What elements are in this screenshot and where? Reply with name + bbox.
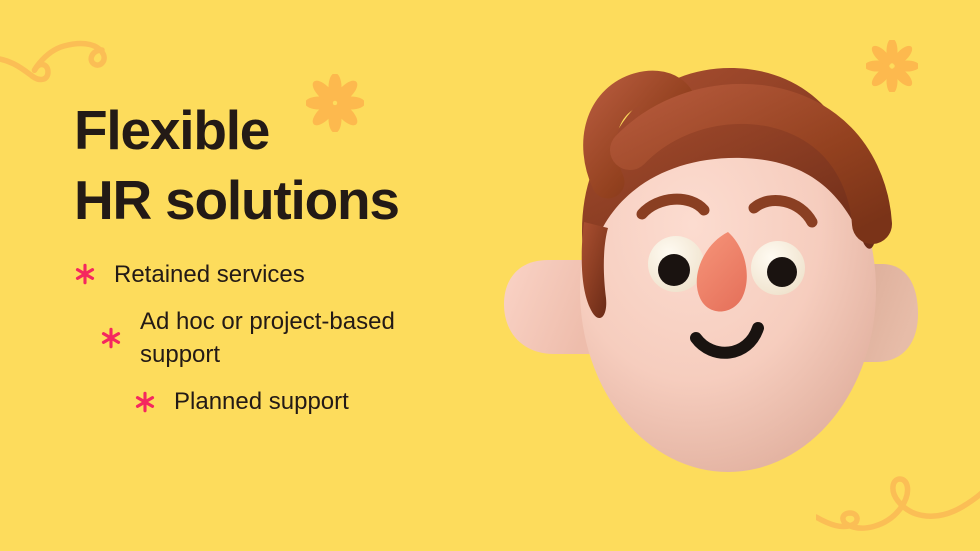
left-pupil: [658, 254, 690, 286]
squiggle-top-left-icon: [0, 18, 120, 98]
asterisk-icon: [100, 327, 122, 349]
feature-list: Retained services Ad hoc or project-base…: [74, 258, 524, 418]
list-item-label: Retained services: [114, 258, 305, 291]
list-item-label: Ad hoc or project-based support: [140, 305, 395, 371]
list-item: Ad hoc or project-based support: [74, 305, 524, 371]
3d-cartoon-head-illustration: [490, 42, 960, 482]
asterisk-icon: [134, 391, 156, 413]
list-item: Retained services: [74, 258, 524, 291]
slide-canvas: Flexible HR solutions Retained services: [0, 0, 980, 551]
list-item-label: Planned support: [174, 385, 349, 418]
list-item: Planned support: [74, 385, 524, 418]
page-title: Flexible HR solutions: [74, 96, 524, 236]
right-pupil: [767, 257, 797, 287]
asterisk-icon: [74, 263, 96, 285]
text-column: Flexible HR solutions Retained services: [74, 96, 524, 432]
